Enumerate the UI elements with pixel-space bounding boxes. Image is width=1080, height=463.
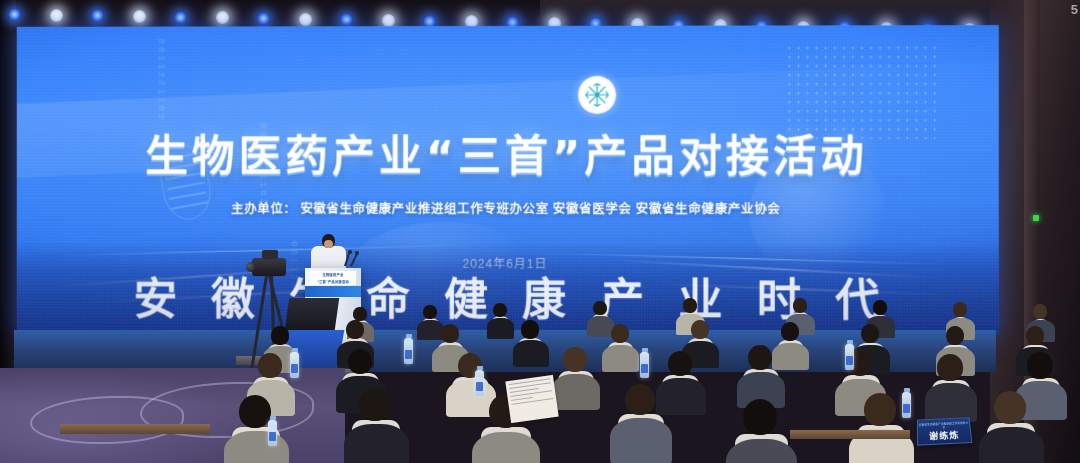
bottle-cap — [477, 366, 483, 370]
attendee-head — [946, 326, 965, 346]
name-card-name: 谢练炼 — [918, 428, 971, 444]
attendee-torso — [513, 340, 549, 367]
attendee-head — [423, 305, 436, 319]
attendee-head — [743, 399, 778, 435]
attendee-torso — [602, 345, 639, 373]
water-bottle — [845, 344, 854, 370]
attendee-head — [493, 303, 507, 317]
attendee-head — [359, 388, 391, 421]
attendee-torso — [925, 383, 977, 422]
attendee-head — [994, 391, 1026, 424]
attendee-torso — [552, 374, 600, 410]
bottle-cap — [642, 348, 648, 352]
attendee-torso — [487, 318, 515, 339]
attendee-head — [793, 298, 807, 312]
bottle-cap — [270, 416, 276, 420]
audience-area — [0, 0, 1080, 463]
printed-document — [505, 375, 558, 423]
attendee-head — [346, 320, 364, 339]
conference-table-edge — [790, 430, 910, 439]
attendee-head — [348, 349, 372, 374]
bottle-cap — [904, 388, 910, 392]
attendee-torso — [224, 431, 289, 463]
conference-table-edge — [60, 424, 210, 434]
attendee-torso — [979, 427, 1044, 463]
water-bottle — [290, 352, 299, 378]
attendee-head — [441, 324, 459, 343]
attendee-head — [1033, 304, 1047, 319]
attendee-head — [625, 384, 655, 416]
attendee-head — [1026, 326, 1045, 346]
attendee-head — [1027, 352, 1052, 378]
attendee-torso — [610, 418, 672, 463]
water-bottle — [902, 392, 911, 418]
attendee-head — [864, 393, 896, 426]
water-bottle — [404, 338, 413, 364]
attendee-head — [593, 301, 607, 315]
attendee-torso — [472, 432, 540, 463]
water-bottle — [475, 370, 484, 396]
attendee-head — [239, 395, 271, 428]
attendee-head — [258, 353, 281, 378]
bottle-cap — [847, 340, 853, 344]
attendee-head — [668, 351, 692, 376]
attendee-head — [521, 320, 538, 338]
bottle-cap — [406, 334, 412, 338]
water-bottle — [268, 420, 277, 446]
conference-photo-scene: 5 0011221102 0011221102 0011221 — [0, 0, 1080, 463]
attendee-head — [683, 298, 697, 312]
attendee-head — [748, 345, 771, 370]
attendee-name-card: 安徽省生命健康产业推进组工作专班办公室 谢练炼 — [917, 417, 972, 446]
attendee-head — [611, 324, 629, 343]
attendee-head — [953, 302, 967, 317]
attendee-head — [861, 324, 880, 344]
attendee-head — [563, 347, 586, 372]
bottle-cap — [292, 348, 298, 352]
attendee-torso — [344, 424, 409, 463]
attendee-head — [691, 320, 709, 339]
attendee-torso — [417, 320, 444, 340]
attendee-head — [271, 326, 288, 344]
water-bottle — [640, 352, 649, 378]
attendee-head — [937, 354, 962, 380]
attendee-head — [781, 322, 799, 341]
attendee-torso — [772, 343, 809, 371]
attendee-head — [353, 307, 366, 321]
attendee-head — [873, 300, 887, 315]
attendee-torso — [656, 378, 706, 415]
